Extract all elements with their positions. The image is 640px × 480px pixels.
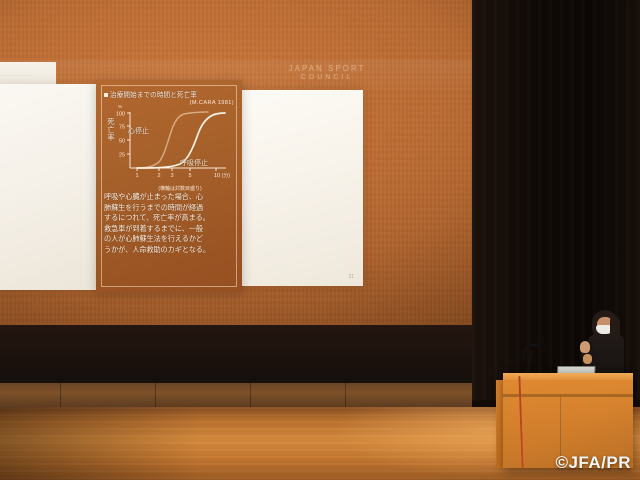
svg-text:3: 3 — [170, 173, 173, 179]
apron-seam — [155, 383, 156, 407]
svg-text:75: 75 — [119, 125, 125, 131]
slide-page-number: 21 — [348, 274, 354, 280]
body-line-4: 救急車が到着するまでに、一般 — [104, 224, 235, 235]
svg-text:2: 2 — [157, 173, 160, 179]
mortality-chart: 100 75 50 25 1 2 3 5 10 (分) — [104, 106, 232, 180]
logo-line-2: COUNCIL — [262, 74, 392, 83]
body-line-3: するにつれて、死亡率が高まる。 — [104, 213, 235, 224]
body-line-5: の人が心肺蘇生法を行えるかど — [104, 234, 235, 245]
left-slide-panel-note: ............ .......... — [0, 72, 52, 80]
left-slide-panel — [0, 84, 98, 290]
podium-ledge — [503, 394, 633, 397]
chart-title: 治療開始までの時間と死亡率 — [104, 89, 236, 99]
stage-apron — [0, 383, 472, 407]
series-label-cardiac-arrest: 心停止 — [128, 126, 149, 136]
chart-title-text: 治療開始までの時間と死亡率 — [110, 92, 197, 99]
microphone-head-icon — [540, 342, 545, 347]
floor-shadow — [0, 407, 200, 480]
center-slide-card: 治療開始までの時間と死亡率 (M.CARA 1981) % 死亡率 100 75… — [96, 80, 242, 292]
apron-seam — [345, 383, 346, 407]
svg-text:5: 5 — [188, 173, 191, 179]
svg-text:25: 25 — [119, 153, 125, 159]
apron-seam — [250, 383, 251, 407]
svg-text:10: 10 — [214, 173, 220, 179]
body-line-2: 肺蘇生を行うまでの時間が経過 — [104, 203, 235, 214]
presenter-hand-lower — [583, 354, 592, 364]
body-line-1: 呼吸や心臓が止まった場合、心 — [104, 192, 235, 203]
svg-text:100: 100 — [116, 112, 125, 118]
svg-text:1: 1 — [135, 173, 138, 179]
right-slide-panel: 21 — [233, 90, 363, 286]
series-label-respiratory-arrest: 呼吸停止 — [180, 158, 208, 168]
svg-text:50: 50 — [119, 139, 125, 145]
apron-seam — [60, 383, 61, 407]
under-screen-band — [0, 325, 472, 383]
auditorium-photo: JAPAN SPORT COUNCIL ............ .......… — [0, 0, 640, 480]
copyright-watermark: ©JFA/PR — [555, 453, 631, 473]
chart-svg: 100 75 50 25 1 2 3 5 10 (分) — [104, 106, 232, 180]
bullet-square-icon — [104, 93, 108, 97]
podium-top-surface — [503, 373, 633, 380]
presenter-hand-upper — [580, 341, 590, 353]
body-line-6: うかが、人命救助のカギとなる。 — [104, 245, 235, 256]
slide-body-text: 呼吸や心臓が止まった場合、心 肺蘇生を行うまでの時間が経過 するにつれて、死亡率… — [104, 192, 235, 256]
x-axis-note: (横軸は対数目盛り) — [122, 185, 238, 192]
svg-text:(分): (分) — [222, 172, 231, 179]
japan-sport-council-logo: JAPAN SPORT COUNCIL — [262, 64, 392, 83]
logo-line-1: JAPAN SPORT — [262, 64, 392, 74]
